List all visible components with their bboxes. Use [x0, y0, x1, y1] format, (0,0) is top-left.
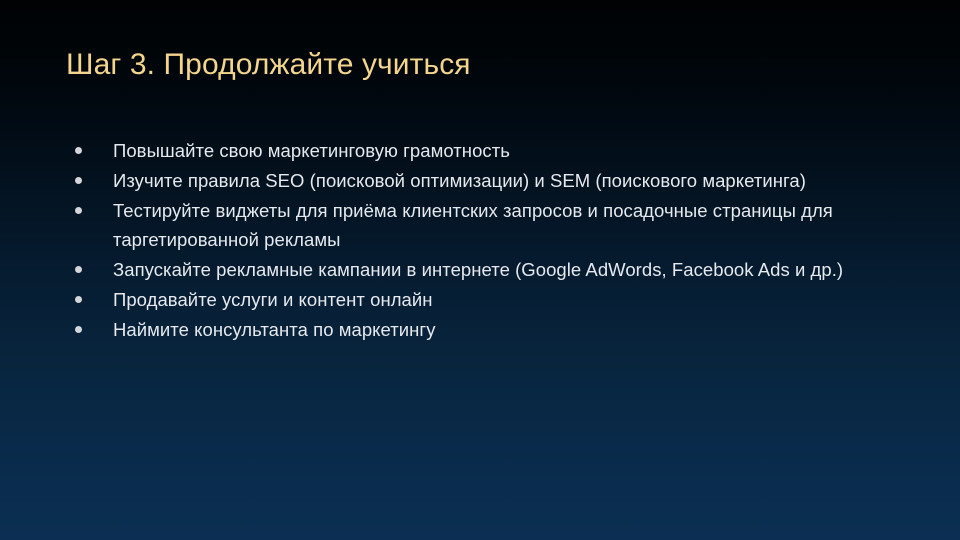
- list-item-label: Тестируйте виджеты для приёма клиентских…: [113, 196, 896, 254]
- list-item-label: Повышайте свою маркетинговую грамотность: [113, 136, 896, 165]
- bullet-dot-icon: [75, 326, 82, 333]
- list-item-label: Запускайте рекламные кампании в интернет…: [113, 255, 896, 284]
- bullet-dot-icon: [75, 147, 82, 154]
- list-item: Запускайте рекламные кампании в интернет…: [66, 255, 896, 284]
- list-item: Наймите консультанта по маркетингу: [66, 315, 896, 344]
- bullet-list: Повышайте свою маркетинговую грамотность…: [66, 136, 896, 345]
- list-item-label: Изучите правила SEO (поисковой оптимизац…: [113, 166, 896, 195]
- list-item: Повышайте свою маркетинговую грамотность: [66, 136, 896, 165]
- presentation-slide: Шаг 3. Продолжайте учиться Повышайте сво…: [0, 0, 960, 540]
- page-title: Шаг 3. Продолжайте учиться: [66, 47, 906, 83]
- list-item: Тестируйте виджеты для приёма клиентских…: [66, 196, 896, 254]
- bullet-dot-icon: [75, 177, 82, 184]
- bullet-dot-icon: [75, 266, 82, 273]
- list-item: Изучите правила SEO (поисковой оптимизац…: [66, 166, 896, 195]
- bullet-dot-icon: [75, 296, 82, 303]
- list-item-label: Продавайте услуги и контент онлайн: [113, 285, 896, 314]
- list-item-label: Наймите консультанта по маркетингу: [113, 315, 896, 344]
- bullet-dot-icon: [75, 207, 82, 214]
- list-item: Продавайте услуги и контент онлайн: [66, 285, 896, 314]
